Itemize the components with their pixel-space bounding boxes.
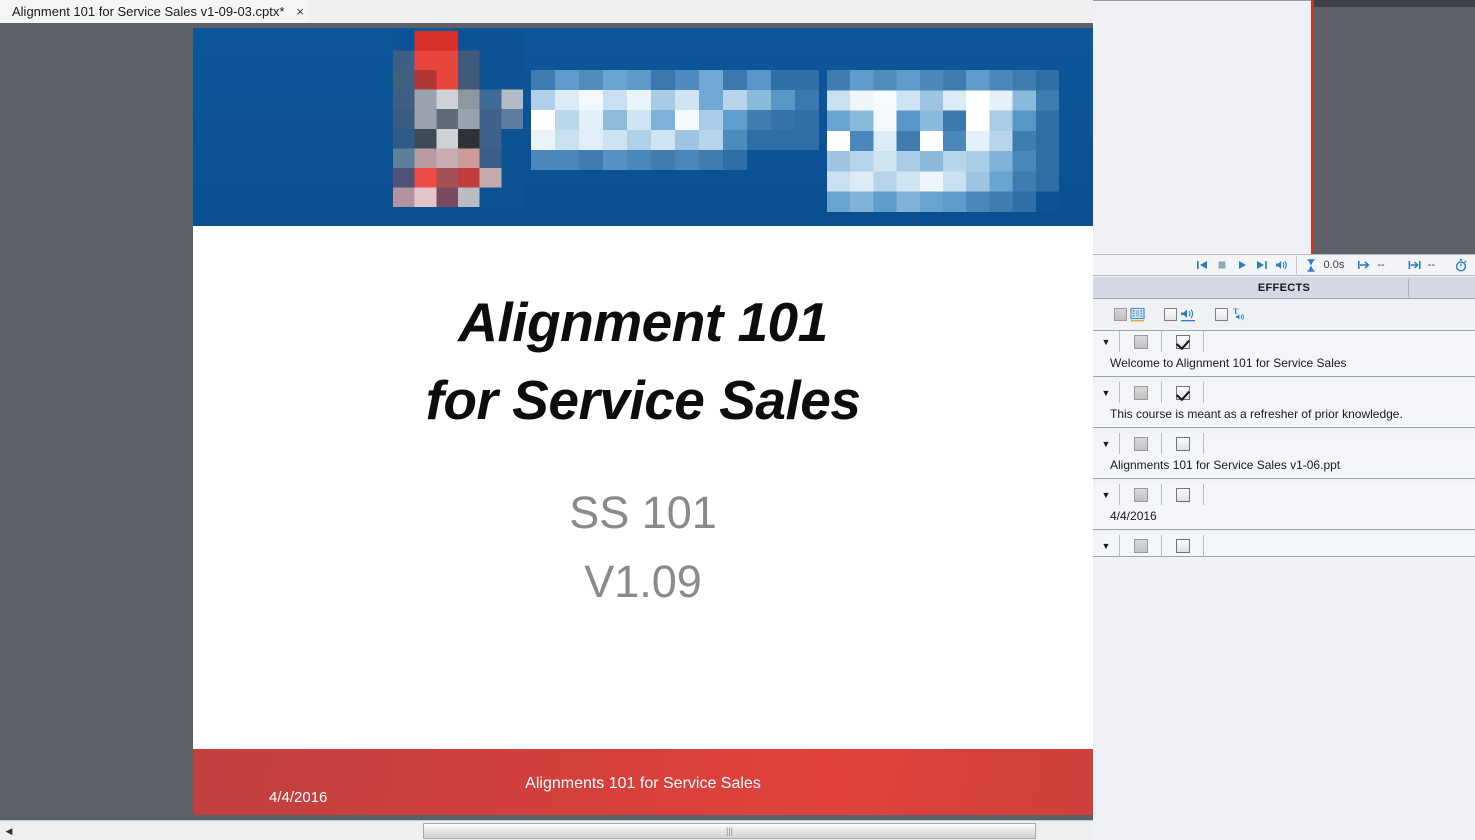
effects-row-controls: ▼	[1093, 433, 1475, 454]
start-time-icon	[1354, 255, 1374, 275]
effects-row[interactable]: ▼This course is meant as a refresher of …	[1093, 382, 1475, 428]
redacted-logo-mark-icon	[393, 31, 523, 207]
audio-toggle-button[interactable]	[1272, 255, 1292, 275]
text-to-speech-icon: T	[1231, 307, 1247, 322]
effects-row-controls: ▼	[1093, 484, 1475, 505]
expand-collapse-triangle-icon[interactable]: ▼	[1093, 388, 1119, 398]
preview-timeline-area[interactable]	[1093, 0, 1311, 254]
redacted-logo-word-two-icon	[827, 70, 1059, 212]
start-time-label: --	[1377, 259, 1384, 271]
slide-subtitle-version[interactable]: V1.09	[193, 555, 1093, 609]
effects-row[interactable]: ▼Welcome to Alignment 101 for Service Sa…	[1093, 331, 1475, 377]
text-to-speech-checkbox[interactable]	[1176, 386, 1190, 400]
expand-collapse-triangle-icon[interactable]: ▼	[1093, 337, 1119, 347]
tab-bar-empty	[308, 0, 1093, 23]
document-tab-label: Alignment 101 for Service Sales v1-09-03…	[12, 4, 284, 19]
video-column-checkbox[interactable]	[1114, 308, 1127, 321]
transport-divider	[1296, 256, 1297, 274]
row-divider	[1203, 484, 1204, 505]
slide-title-line-2: for Service Sales	[193, 361, 1093, 439]
slide-title[interactable]: Alignment 101 for Service Sales	[193, 283, 1093, 439]
row-divider	[1203, 535, 1204, 556]
editor-area: Alignment 101 for Service Sales v1-09-03…	[0, 0, 1093, 840]
slide-footer-title[interactable]: Alignments 101 for Service Sales	[193, 775, 1093, 793]
effects-row[interactable]: ▼	[1093, 535, 1475, 557]
video-column-header[interactable]	[1114, 307, 1145, 322]
expand-collapse-triangle-icon[interactable]: ▼	[1093, 541, 1119, 551]
effects-row[interactable]: ▼4/4/2016	[1093, 484, 1475, 530]
effects-row[interactable]: ▼Alignments 101 for Service Sales v1-06.…	[1093, 433, 1475, 479]
slide-footer: 4/4/2016 Alignments 101 for Service Sale…	[193, 749, 1093, 815]
audio-cell[interactable]	[1120, 386, 1161, 400]
audio-checkbox[interactable]	[1134, 335, 1148, 349]
scrollbar-thumb[interactable]: |||	[423, 823, 1036, 839]
text-to-speech-checkbox[interactable]	[1176, 335, 1190, 349]
tab-bar: Alignment 101 for Service Sales v1-09-03…	[0, 0, 1093, 23]
preview-stage[interactable]	[1314, 7, 1475, 254]
play-button[interactable]	[1232, 255, 1252, 275]
expand-collapse-triangle-icon[interactable]: ▼	[1093, 439, 1119, 449]
audio-cell[interactable]	[1120, 335, 1161, 349]
application-window: Alignment 101 for Service Sales v1-09-03…	[0, 0, 1475, 840]
effects-header-divider	[1408, 279, 1409, 297]
close-icon[interactable]: ×	[294, 5, 306, 18]
effects-row-label: 4/4/2016	[1093, 505, 1475, 529]
preview-panel	[1093, 0, 1475, 254]
text-to-speech-checkbox[interactable]	[1176, 437, 1190, 451]
audio-column-header[interactable]	[1164, 307, 1196, 322]
effects-row-controls: ▼	[1093, 535, 1475, 556]
text-to-speech-column-checkbox[interactable]	[1215, 308, 1228, 321]
effects-row-label: Alignments 101 for Service Sales v1-06.p…	[1093, 454, 1475, 478]
duration-label: 0.0s	[1324, 259, 1345, 271]
text-to-speech-cell[interactable]	[1162, 335, 1203, 349]
horizontal-scrollbar[interactable]: ◀ |||	[0, 820, 1093, 840]
scroll-left-icon[interactable]: ◀	[2, 824, 16, 838]
end-time-icon	[1405, 255, 1425, 275]
text-to-speech-cell[interactable]	[1162, 386, 1203, 400]
document-tab[interactable]: Alignment 101 for Service Sales v1-09-03…	[0, 0, 316, 23]
text-to-speech-cell[interactable]	[1162, 437, 1203, 451]
audio-checkbox[interactable]	[1134, 539, 1148, 553]
slide-title-line-1: Alignment 101	[193, 283, 1093, 361]
stopwatch-icon[interactable]	[1451, 255, 1471, 275]
text-to-speech-cell[interactable]	[1162, 539, 1203, 553]
text-to-speech-cell[interactable]	[1162, 488, 1203, 502]
effects-row-label: Welcome to Alignment 101 for Service Sal…	[1093, 352, 1475, 376]
slide-canvas: Alignment 101 for Service Sales SS 101 V…	[0, 23, 1093, 820]
audio-cell[interactable]	[1120, 437, 1161, 451]
duration-icon	[1301, 255, 1321, 275]
expand-collapse-triangle-icon[interactable]: ▼	[1093, 490, 1119, 500]
audio-checkbox[interactable]	[1134, 488, 1148, 502]
scrollbar-grip-icon: |||	[726, 826, 733, 836]
effects-row-controls: ▼	[1093, 331, 1475, 352]
stop-button[interactable]	[1212, 255, 1232, 275]
effects-row-label: This course is meant as a refresher of p…	[1093, 403, 1475, 427]
audio-checkbox[interactable]	[1134, 386, 1148, 400]
audio-cell[interactable]	[1120, 488, 1161, 502]
row-divider	[1203, 331, 1204, 352]
effects-row-controls: ▼	[1093, 382, 1475, 403]
audio-column-checkbox[interactable]	[1164, 308, 1177, 321]
slide-subtitle-course-code[interactable]: SS 101	[193, 486, 1093, 540]
forward-button[interactable]	[1252, 255, 1272, 275]
slide-banner	[193, 28, 1093, 226]
row-divider	[1203, 382, 1204, 403]
effects-empty-space	[1093, 566, 1475, 840]
right-panel: 0.0s -- -- EFFECTS	[1093, 0, 1475, 840]
row-divider	[1203, 433, 1204, 454]
preview-titlebar	[1314, 0, 1475, 7]
audio-cell[interactable]	[1120, 539, 1161, 553]
slide[interactable]: Alignment 101 for Service Sales SS 101 V…	[193, 28, 1093, 815]
transport-toolbar: 0.0s -- --	[1093, 254, 1475, 276]
text-to-speech-column-header[interactable]: T	[1215, 307, 1247, 322]
svg-text:T: T	[1233, 307, 1239, 316]
end-time-label: --	[1428, 259, 1435, 271]
text-to-speech-checkbox[interactable]	[1176, 488, 1190, 502]
effects-panel-title: EFFECTS	[1258, 282, 1310, 294]
rewind-button[interactable]	[1192, 255, 1212, 275]
redacted-logo-word-one-icon	[531, 70, 819, 170]
text-to-speech-checkbox[interactable]	[1176, 539, 1190, 553]
filmstrip-icon	[1130, 307, 1145, 322]
speaker-icon	[1180, 307, 1196, 322]
effects-column-headers: T	[1093, 299, 1475, 331]
audio-checkbox[interactable]	[1134, 437, 1148, 451]
slide-body: Alignment 101 for Service Sales SS 101 V…	[193, 226, 1093, 749]
effects-panel-header: EFFECTS	[1093, 277, 1475, 299]
